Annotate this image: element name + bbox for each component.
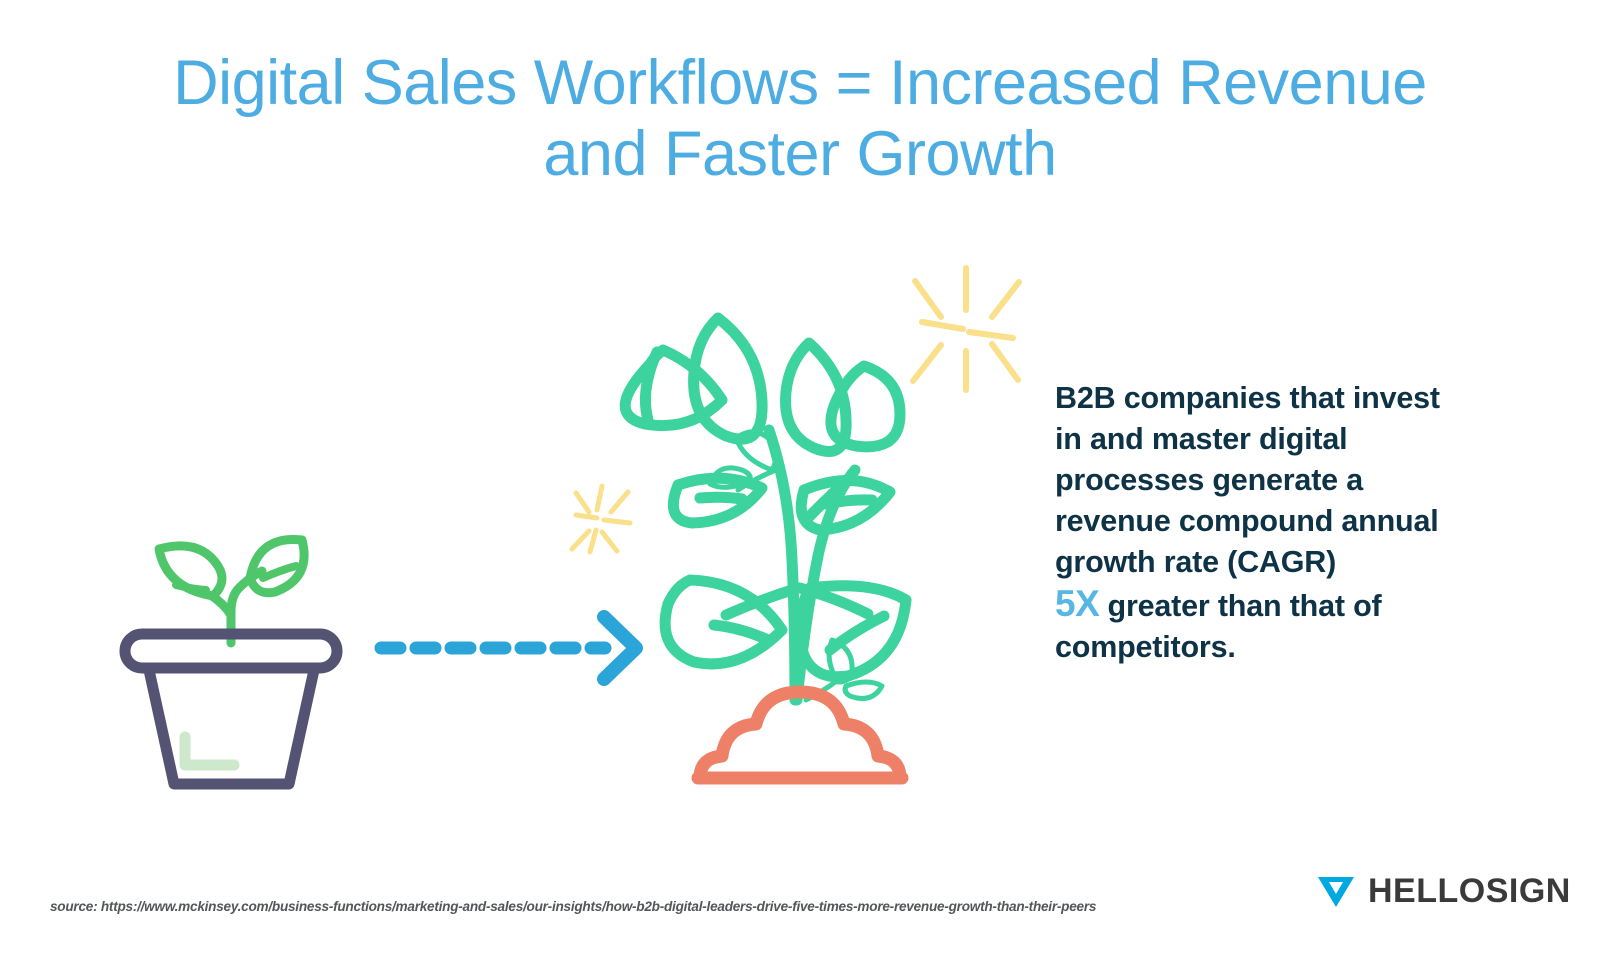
small-potted-seedling-icon — [125, 539, 337, 784]
stat-multiplier: 5X — [1055, 583, 1099, 624]
stat-callout-text: B2B companies that invest in and master … — [1055, 378, 1455, 668]
mature-plant-icon — [625, 318, 906, 700]
hellosign-logo[interactable]: HELLOSIGN — [1316, 873, 1571, 909]
stat-callout-tail: greater than that of competitors. — [1055, 589, 1381, 664]
soil-mound-icon — [698, 692, 902, 778]
sparkle-small-icon — [572, 486, 630, 552]
infographic-canvas: Digital Sales Workflows = Increased Reve… — [0, 0, 1600, 963]
stat-callout-paragraph-2: 5X greater than that of competitors. — [1055, 583, 1455, 668]
stat-callout-paragraph-1: B2B companies that invest in and master … — [1055, 378, 1455, 583]
dashed-growth-arrow-icon — [381, 617, 636, 679]
hellosign-triangle-icon — [1316, 873, 1356, 909]
hellosign-wordmark: HELLOSIGN — [1368, 874, 1571, 908]
source-citation: source: https://www.mckinsey.com/busines… — [50, 899, 1096, 914]
sparkle-large-icon — [913, 268, 1019, 390]
